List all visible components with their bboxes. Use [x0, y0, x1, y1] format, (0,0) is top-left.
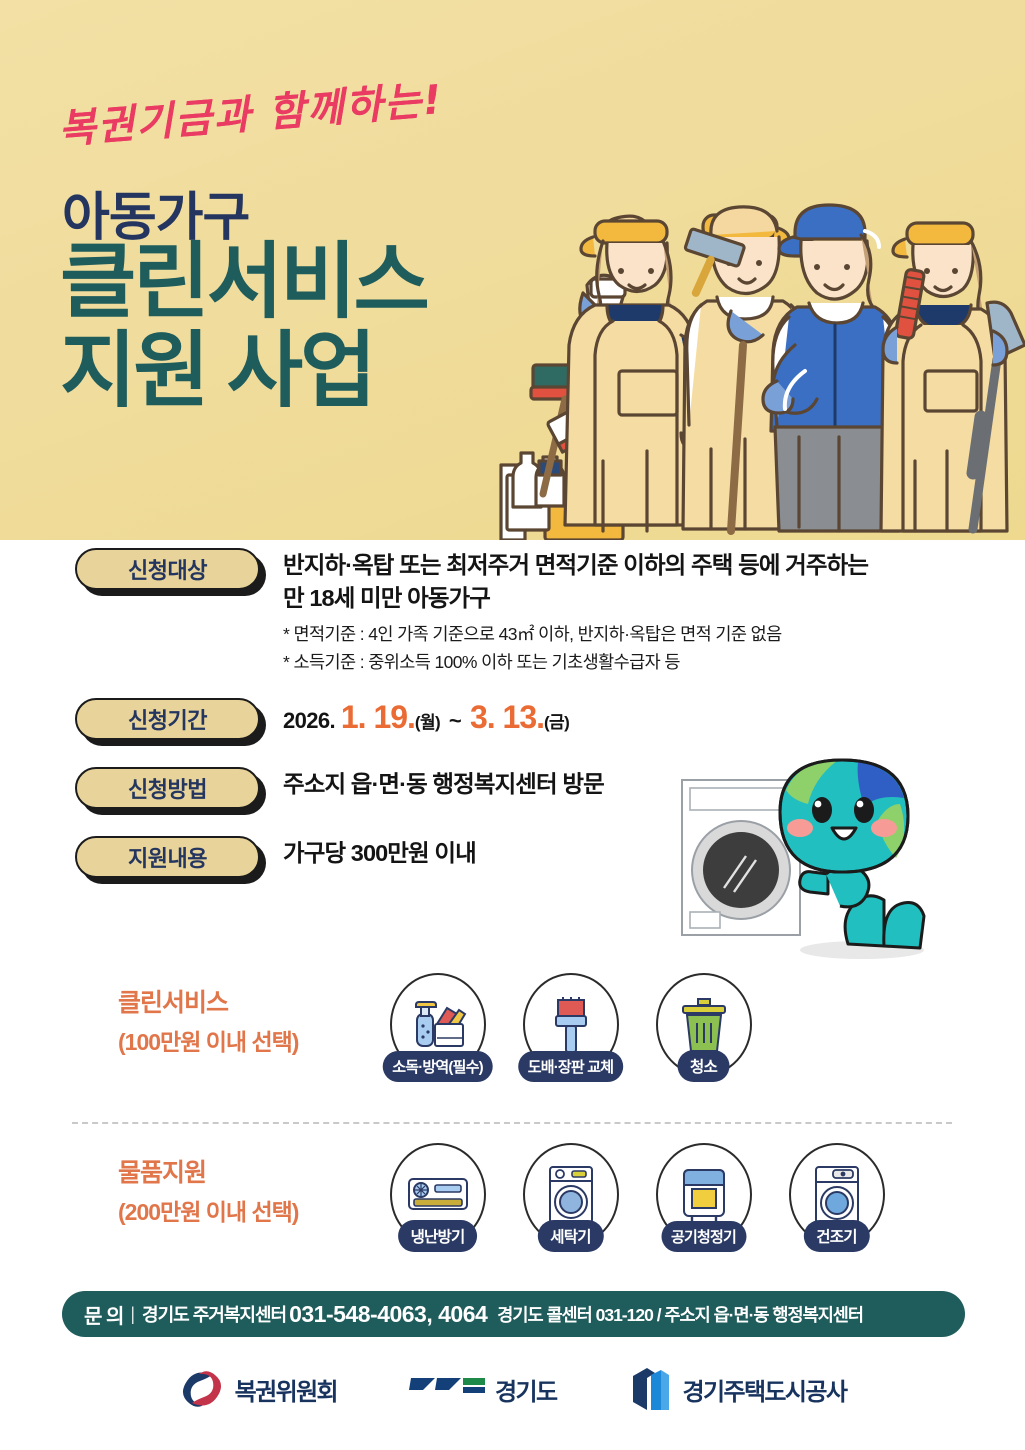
clean-service-title: 클린서비스 [118, 983, 298, 1019]
air-purifier-icon [680, 1166, 728, 1224]
gh-corporation-icon [629, 1366, 673, 1412]
period-tilde: ~ [446, 708, 464, 733]
info-row-period: 신청기간 2026. 1. 19.(월) ~ 3. 13.(금) [0, 698, 1025, 740]
goods-item-label: 세탁기 [537, 1220, 603, 1252]
period-end: 3. 13. [470, 699, 544, 735]
method-text: 주소지 읍·면·동 행정복지센터 방문 [283, 768, 604, 801]
badge-method: 신청방법 [75, 767, 260, 809]
clothes-dryer-icon [812, 1165, 862, 1225]
hero-kicker: 복권기금과 함께하는! [56, 67, 445, 155]
contact-extra: 경기도 콜센터 031-120 / 주소지 읍·면·동 행정복지센터 [487, 1302, 863, 1327]
logo-label: 경기도 [495, 1372, 556, 1407]
service-item-cleaning[interactable]: 청소 [646, 973, 761, 1076]
badge-wrap: 신청기간 [75, 698, 275, 740]
info-row-period-body: 2026. 1. 19.(월) ~ 3. 13.(금) [275, 698, 569, 736]
goods-item-label: 냉난방기 [398, 1220, 478, 1252]
logo-lottery-commission: 복권위원회 [179, 1366, 337, 1412]
goods-support-items: 냉난방기 세탁기 [380, 1143, 894, 1246]
goods-support-label: 물품지원 (200만원 이내 선택) [118, 1153, 298, 1227]
service-item-label: 소독·방역(필수) [382, 1051, 493, 1082]
mascot-illustration [672, 752, 972, 967]
period-year: 2026. [283, 708, 335, 733]
paint-brush-icon [544, 996, 598, 1054]
service-item-label: 청소 [677, 1050, 730, 1082]
section-divider [72, 1122, 952, 1124]
clean-service-label: 클린서비스 (100만원 이내 선택) [118, 983, 298, 1057]
earth-character [780, 760, 924, 948]
poster-root: 복권기금과 함께하는! 아동가구 클린서비스 지원 사업 [0, 0, 1025, 1450]
goods-item-label: 공기청정기 [661, 1221, 746, 1252]
contact-label: 문 의 [84, 1300, 123, 1329]
info-row-target: 신청대상 반지하·옥탑 또는 최저주거 면적기준 이하의 주택 등에 거주하는 … [0, 548, 1025, 676]
goods-item-dryer[interactable]: 건조기 [779, 1143, 894, 1246]
logo-label: 경기주택도시공사 [683, 1372, 847, 1407]
contact-bar: 문 의 | 경기도 주거복지센터 031-548-4063, 4064 경기도 … [62, 1291, 965, 1337]
service-item-label: 도배·장판 교체 [518, 1051, 624, 1082]
contact-org: 경기도 주거복지센터 [142, 1301, 286, 1327]
info-row-target-body: 반지하·옥탑 또는 최저주거 면적기준 이하의 주택 등에 거주하는 만 18세… [275, 548, 868, 676]
hero-title: 클린서비스 지원 사업 [60, 240, 427, 413]
target-line1: 반지하·옥탑 또는 최저주거 면적기준 이하의 주택 등에 거주하는 [283, 549, 868, 582]
badge-wrap: 신청대상 [75, 548, 275, 590]
logo-gh-corporation: 경기주택도시공사 [629, 1366, 847, 1412]
hero-title-line1: 클린서비스 [60, 235, 427, 328]
spray-bottle-icon [407, 994, 469, 1056]
badge-wrap: 지원내용 [75, 836, 275, 878]
target-line2: 만 18세 미만 아동가구 [283, 582, 868, 615]
logo-row: 복권위원회 경기도 경기주택도시공사 [0, 1358, 1025, 1420]
service-item-disinfection[interactable]: 소독·방역(필수) [380, 973, 495, 1076]
target-note-area: * 면적기준 : 4인 가족 기준으로 43㎡ 이하, 반지하·옥탑은 면적 기… [283, 621, 868, 648]
contact-phone[interactable]: 031-548-4063, 4064 [286, 1301, 487, 1328]
gyeonggi-do-arrows-icon [409, 1372, 485, 1406]
service-item-wallpaper[interactable]: 도배·장판 교체 [513, 973, 628, 1076]
washing-machine-icon [546, 1165, 596, 1225]
goods-support-block: 물품지원 (200만원 이내 선택) 냉난방기 [0, 1145, 1025, 1285]
hero-title-line2: 지원 사업 [60, 329, 427, 414]
application-period: 2026. 1. 19.(월) ~ 3. 13.(금) [283, 699, 569, 736]
goods-support-title: 물품지원 [118, 1153, 298, 1189]
logo-label: 복권위원회 [235, 1372, 337, 1407]
info-row-method-body: 주소지 읍·면·동 행정복지센터 방문 [275, 767, 604, 801]
clean-service-block: 클린서비스 (100만원 이내 선택) [0, 975, 1025, 1115]
goods-item-washer[interactable]: 세탁기 [513, 1143, 628, 1246]
goods-item-aircon[interactable]: 냉난방기 [380, 1143, 495, 1246]
badge-support: 지원내용 [75, 836, 260, 878]
contact-separator: | [123, 1304, 142, 1325]
period-start: 1. 19. [341, 699, 415, 735]
goods-item-purifier[interactable]: 공기청정기 [646, 1143, 761, 1246]
support-text: 가구당 300만원 이내 [283, 837, 476, 870]
info-row-support-body: 가구당 300만원 이내 [275, 836, 476, 870]
hero-section: 복권기금과 함께하는! 아동가구 클린서비스 지원 사업 [0, 0, 1025, 540]
cleaning-workers-illustration [495, 175, 1025, 540]
clean-service-items: 소독·방역(필수) 도배·장판 교체 [380, 973, 761, 1076]
clean-service-limit: (100만원 이내 선택) [118, 1023, 298, 1057]
goods-support-limit: (200만원 이내 선택) [118, 1193, 298, 1227]
goods-item-label: 건조기 [803, 1220, 869, 1252]
badge-target: 신청대상 [75, 548, 260, 590]
korea-government-taegeuk-icon [179, 1366, 225, 1412]
air-conditioner-icon [407, 1175, 469, 1215]
badge-wrap: 신청방법 [75, 767, 275, 809]
period-start-dow: (월) [415, 713, 440, 732]
badge-period: 신청기간 [75, 698, 260, 740]
target-note-income: * 소득기준 : 중위소득 100% 이하 또는 기초생활수급자 등 [283, 649, 868, 676]
period-end-dow: (금) [544, 713, 569, 732]
trash-bin-icon [679, 997, 729, 1053]
logo-gyeonggi-do: 경기도 [409, 1372, 556, 1407]
